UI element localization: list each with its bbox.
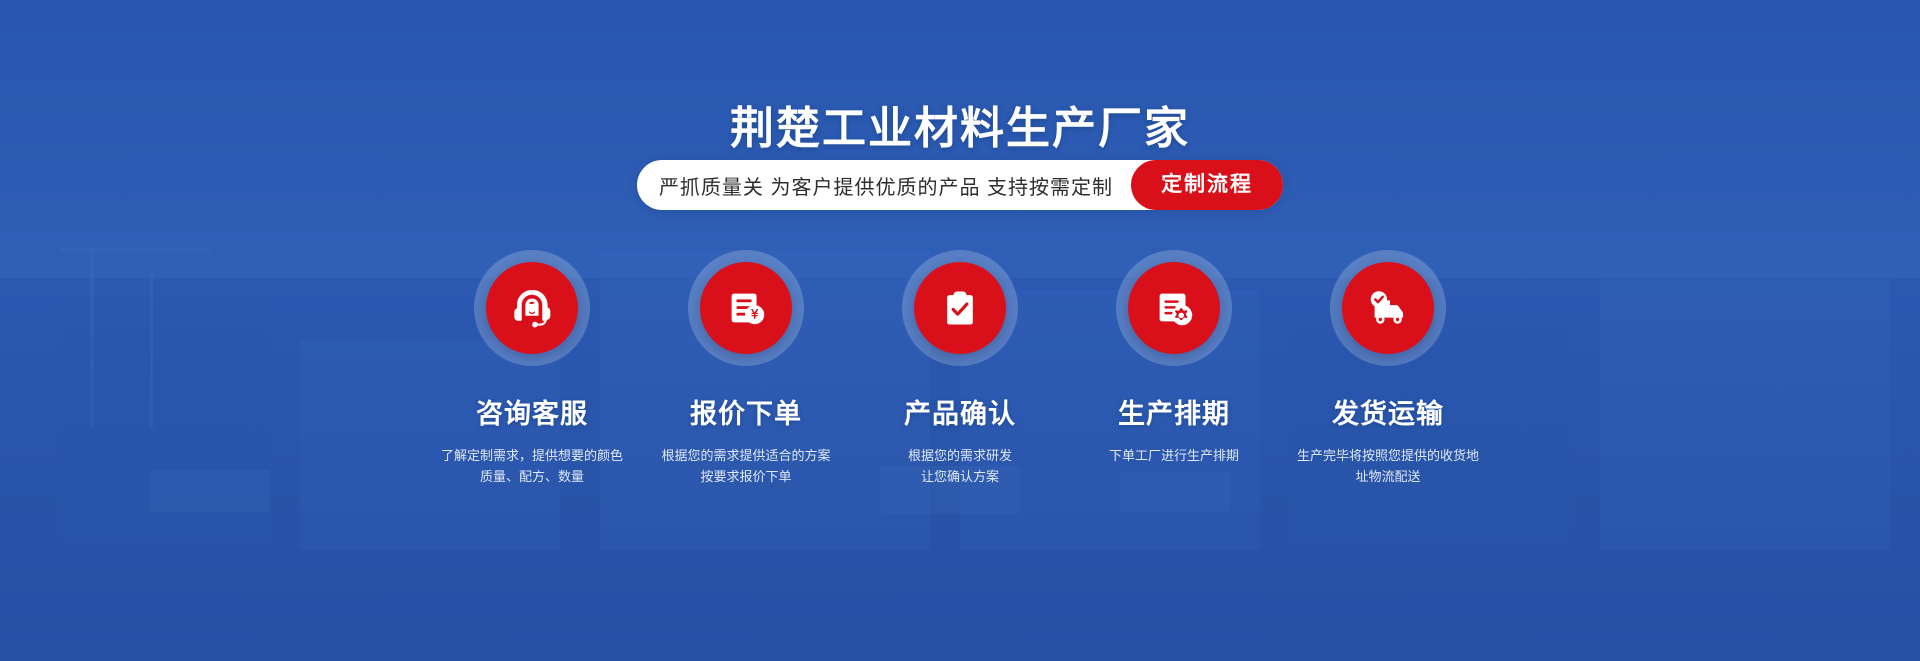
step-description: 下单工厂进行生产排期 — [1074, 445, 1274, 466]
step-description: 根据您的需求提供适合的方案 按要求报价下单 — [646, 445, 846, 487]
step-description-line1: 根据您的需求研发 — [860, 445, 1060, 466]
document-gear-icon — [1151, 285, 1197, 331]
step-icon-circle — [1128, 262, 1220, 354]
step-description-line2: 按要求报价下单 — [646, 466, 846, 487]
hero-banner: 荆楚工业材料生产厂家 严抓质量关 为客户提供优质的产品 支持按需定制 定制流程 — [0, 0, 1920, 661]
process-step-4[interactable]: 生产排期 下单工厂进行生产排期 — [1067, 250, 1281, 466]
process-step-1[interactable]: 咨询客服 了解定制需求，提供想要的颜色 质量、配方、数量 — [425, 250, 639, 487]
step-label: 产品确认 — [904, 392, 1016, 431]
quote-invoice-icon — [723, 285, 769, 331]
step-icon-circle — [486, 262, 578, 354]
clipboard-check-icon — [938, 286, 982, 330]
step-icon-ring — [1330, 250, 1446, 366]
step-description-line2: 址物流配送 — [1288, 466, 1488, 487]
step-label: 咨询客服 — [476, 392, 588, 431]
step-description: 生产完毕将按照您提供的收货地 址物流配送 — [1288, 445, 1488, 487]
custom-process-button[interactable]: 定制流程 — [1131, 160, 1283, 210]
slogan-pill: 严抓质量关 为客户提供优质的产品 支持按需定制 定制流程 — [637, 160, 1283, 210]
step-icon-ring — [688, 250, 804, 366]
step-icon-circle — [914, 262, 1006, 354]
step-description-line2: 让您确认方案 — [860, 466, 1060, 487]
process-step-2[interactable]: 报价下单 根据您的需求提供适合的方案 按要求报价下单 — [639, 250, 853, 487]
step-icon-ring — [1116, 250, 1232, 366]
page-title: 荆楚工业材料生产厂家 — [0, 92, 1920, 156]
step-icon-ring — [902, 250, 1018, 366]
step-label: 生产排期 — [1118, 392, 1230, 431]
step-icon-circle — [1342, 262, 1434, 354]
headset-support-icon — [508, 284, 556, 332]
step-description-line1: 根据您的需求提供适合的方案 — [646, 445, 846, 466]
step-description-line1: 了解定制需求，提供想要的颜色 — [432, 445, 632, 466]
slogan-text: 严抓质量关 为客户提供优质的产品 支持按需定制 — [659, 171, 1131, 200]
step-description: 了解定制需求，提供想要的颜色 质量、配方、数量 — [432, 445, 632, 487]
step-description-line1: 生产完毕将按照您提供的收货地 — [1288, 445, 1488, 466]
process-step-3[interactable]: 产品确认 根据您的需求研发 让您确认方案 — [853, 250, 1067, 487]
step-description-line2: 质量、配方、数量 — [432, 466, 632, 487]
step-label: 发货运输 — [1332, 392, 1444, 431]
step-description-line1: 下单工厂进行生产排期 — [1074, 445, 1274, 466]
step-icon-ring — [474, 250, 590, 366]
step-label: 报价下单 — [690, 392, 802, 431]
step-icon-circle — [700, 262, 792, 354]
process-step-5[interactable]: 发货运输 生产完毕将按照您提供的收货地 址物流配送 — [1281, 250, 1495, 487]
step-description: 根据您的需求研发 让您确认方案 — [860, 445, 1060, 487]
delivery-truck-icon — [1363, 285, 1413, 331]
process-steps: 咨询客服 了解定制需求，提供想要的颜色 质量、配方、数量 — [0, 250, 1920, 487]
